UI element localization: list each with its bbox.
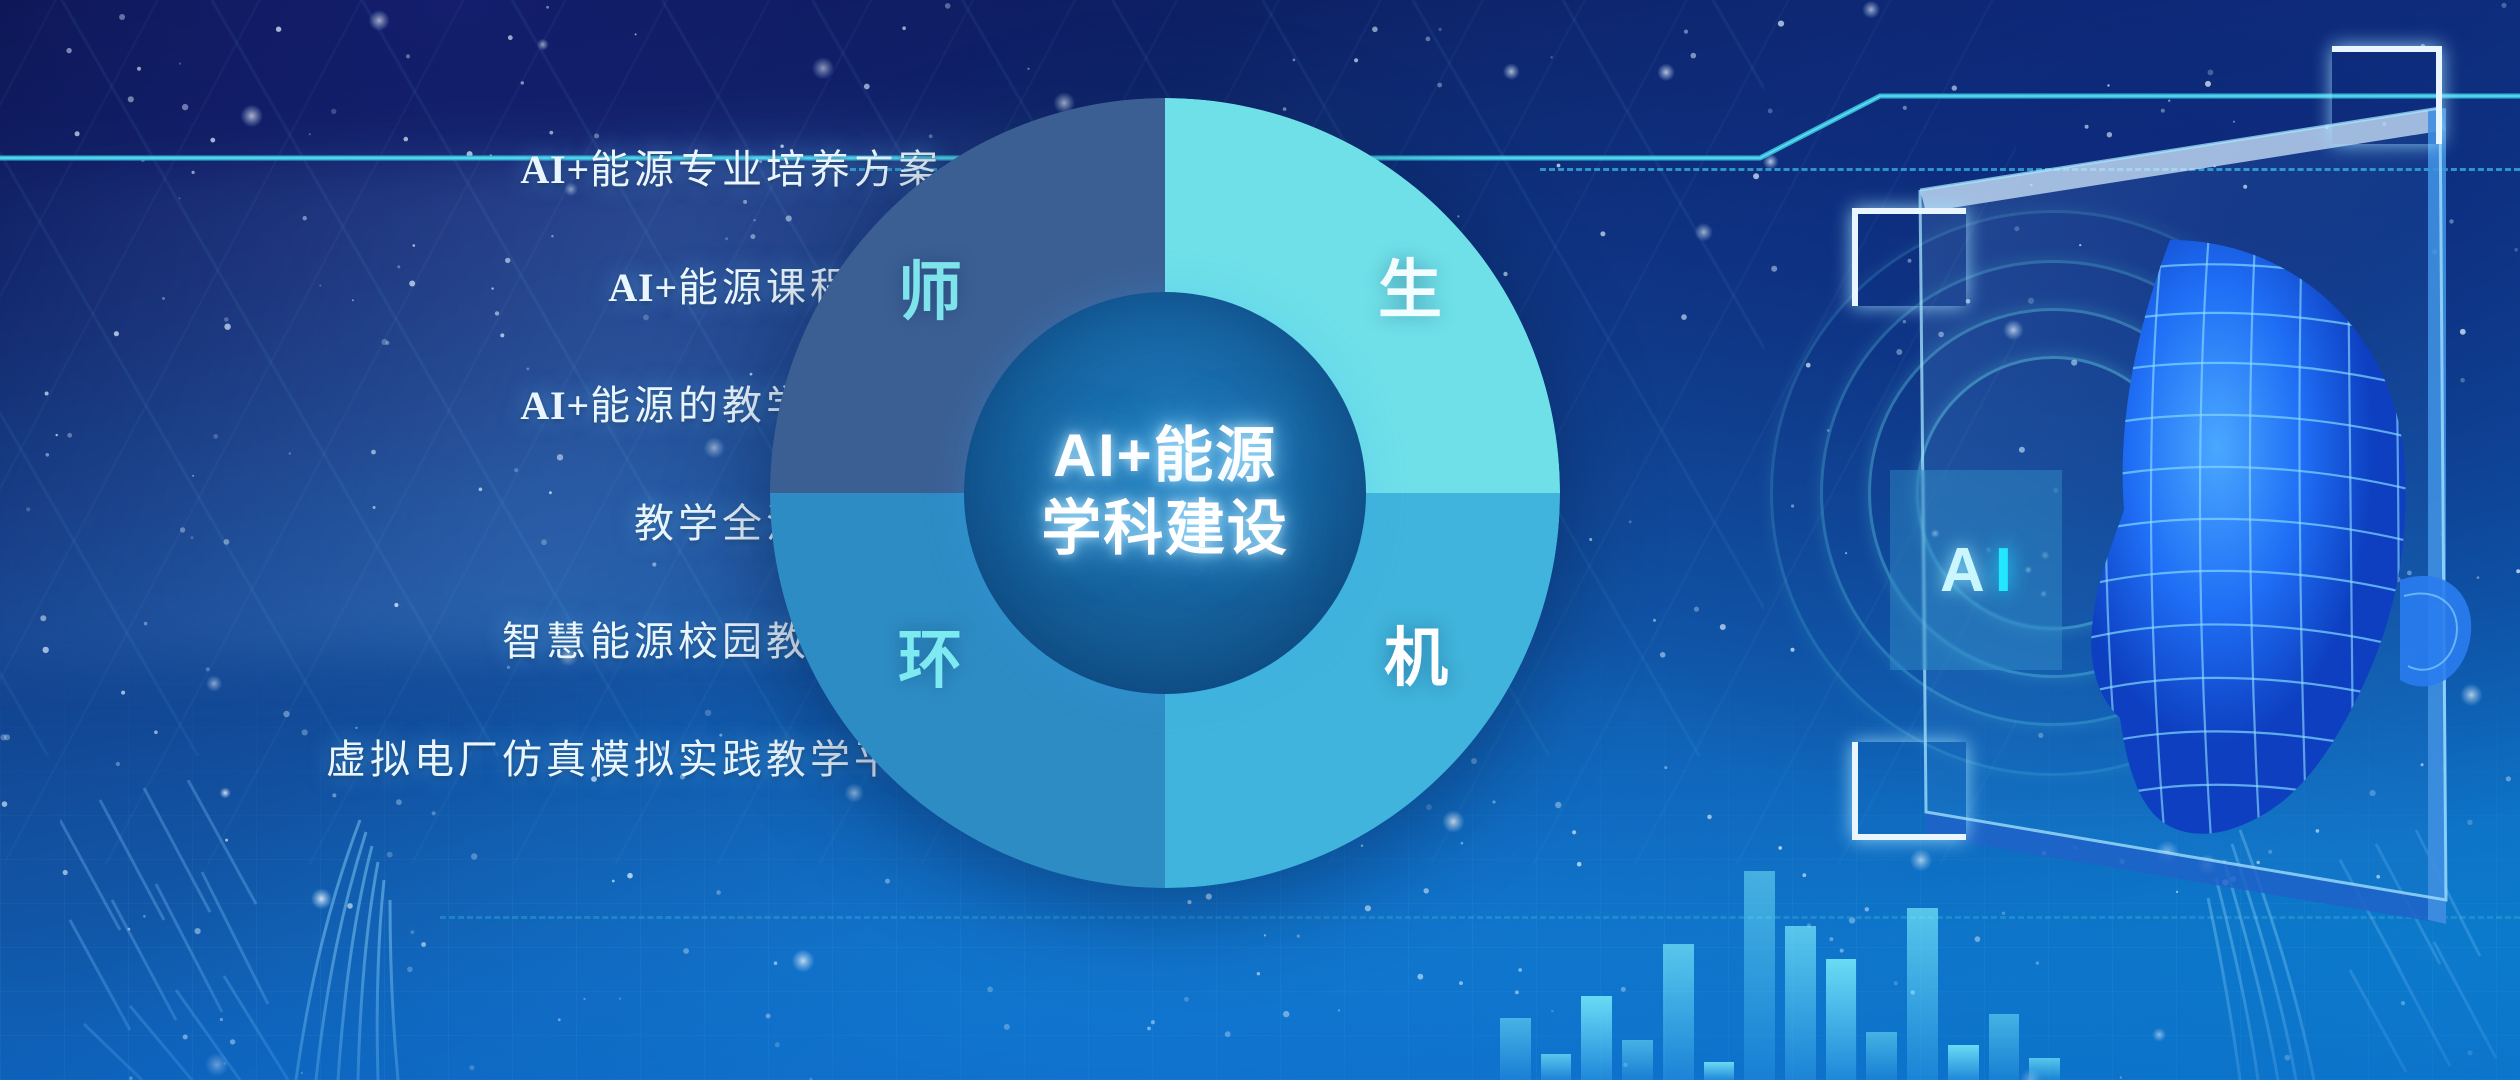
- bar-silhouette-item: [1541, 1054, 1572, 1080]
- bar-silhouette-item: [1663, 944, 1694, 1080]
- wireframe-head-graphic: [1740, 40, 2520, 1000]
- list-item-prefix: AI+: [608, 265, 678, 310]
- ai-badge: A I: [1890, 470, 2062, 670]
- poster-canvas: AI+能源专业培养方案 AI+能源课程体系 AI+能源的教学大模型 教学全流程范…: [0, 0, 2520, 1080]
- list-item-prefix: AI+: [520, 147, 590, 192]
- corner-bracket-top-right-icon: [2332, 46, 2442, 144]
- ai-badge-letter-a: A: [1940, 535, 1985, 606]
- center-title-line-1: AI+能源: [1053, 424, 1277, 489]
- bar-silhouette-item: [2029, 1058, 2060, 1080]
- center-title-line-2: 学科建设: [1041, 497, 1288, 562]
- donut-center-hub: AI+能源 学科建设: [964, 292, 1366, 694]
- donut-chart: 师 生 环 机 AI+能源 学科建设: [770, 98, 1560, 888]
- donut-label-top-right: 生: [1378, 258, 1442, 322]
- bar-silhouette-item: [1500, 1018, 1531, 1080]
- bar-silhouette-item: [1948, 1045, 1979, 1080]
- donut-label-bottom-left: 环: [898, 628, 962, 692]
- corner-bracket-bottom-left-icon: [1852, 742, 1966, 840]
- bar-silhouette-item: [1622, 1040, 1653, 1080]
- corner-bracket-top-left-icon: [1852, 208, 1966, 306]
- bar-silhouette-item: [1704, 1062, 1735, 1080]
- donut-label-bottom-right: 机: [1384, 626, 1448, 690]
- donut-label-top-left: 师: [898, 260, 962, 324]
- ai-visual-panel: A I: [1740, 40, 2520, 1000]
- bar-silhouette-item: [1581, 996, 1612, 1080]
- ai-badge-letter-i: I: [1995, 535, 2012, 606]
- list-item-prefix: AI+: [520, 383, 590, 428]
- bar-silhouette-item: [1989, 1014, 2020, 1080]
- bar-silhouette-item: [1866, 1032, 1897, 1080]
